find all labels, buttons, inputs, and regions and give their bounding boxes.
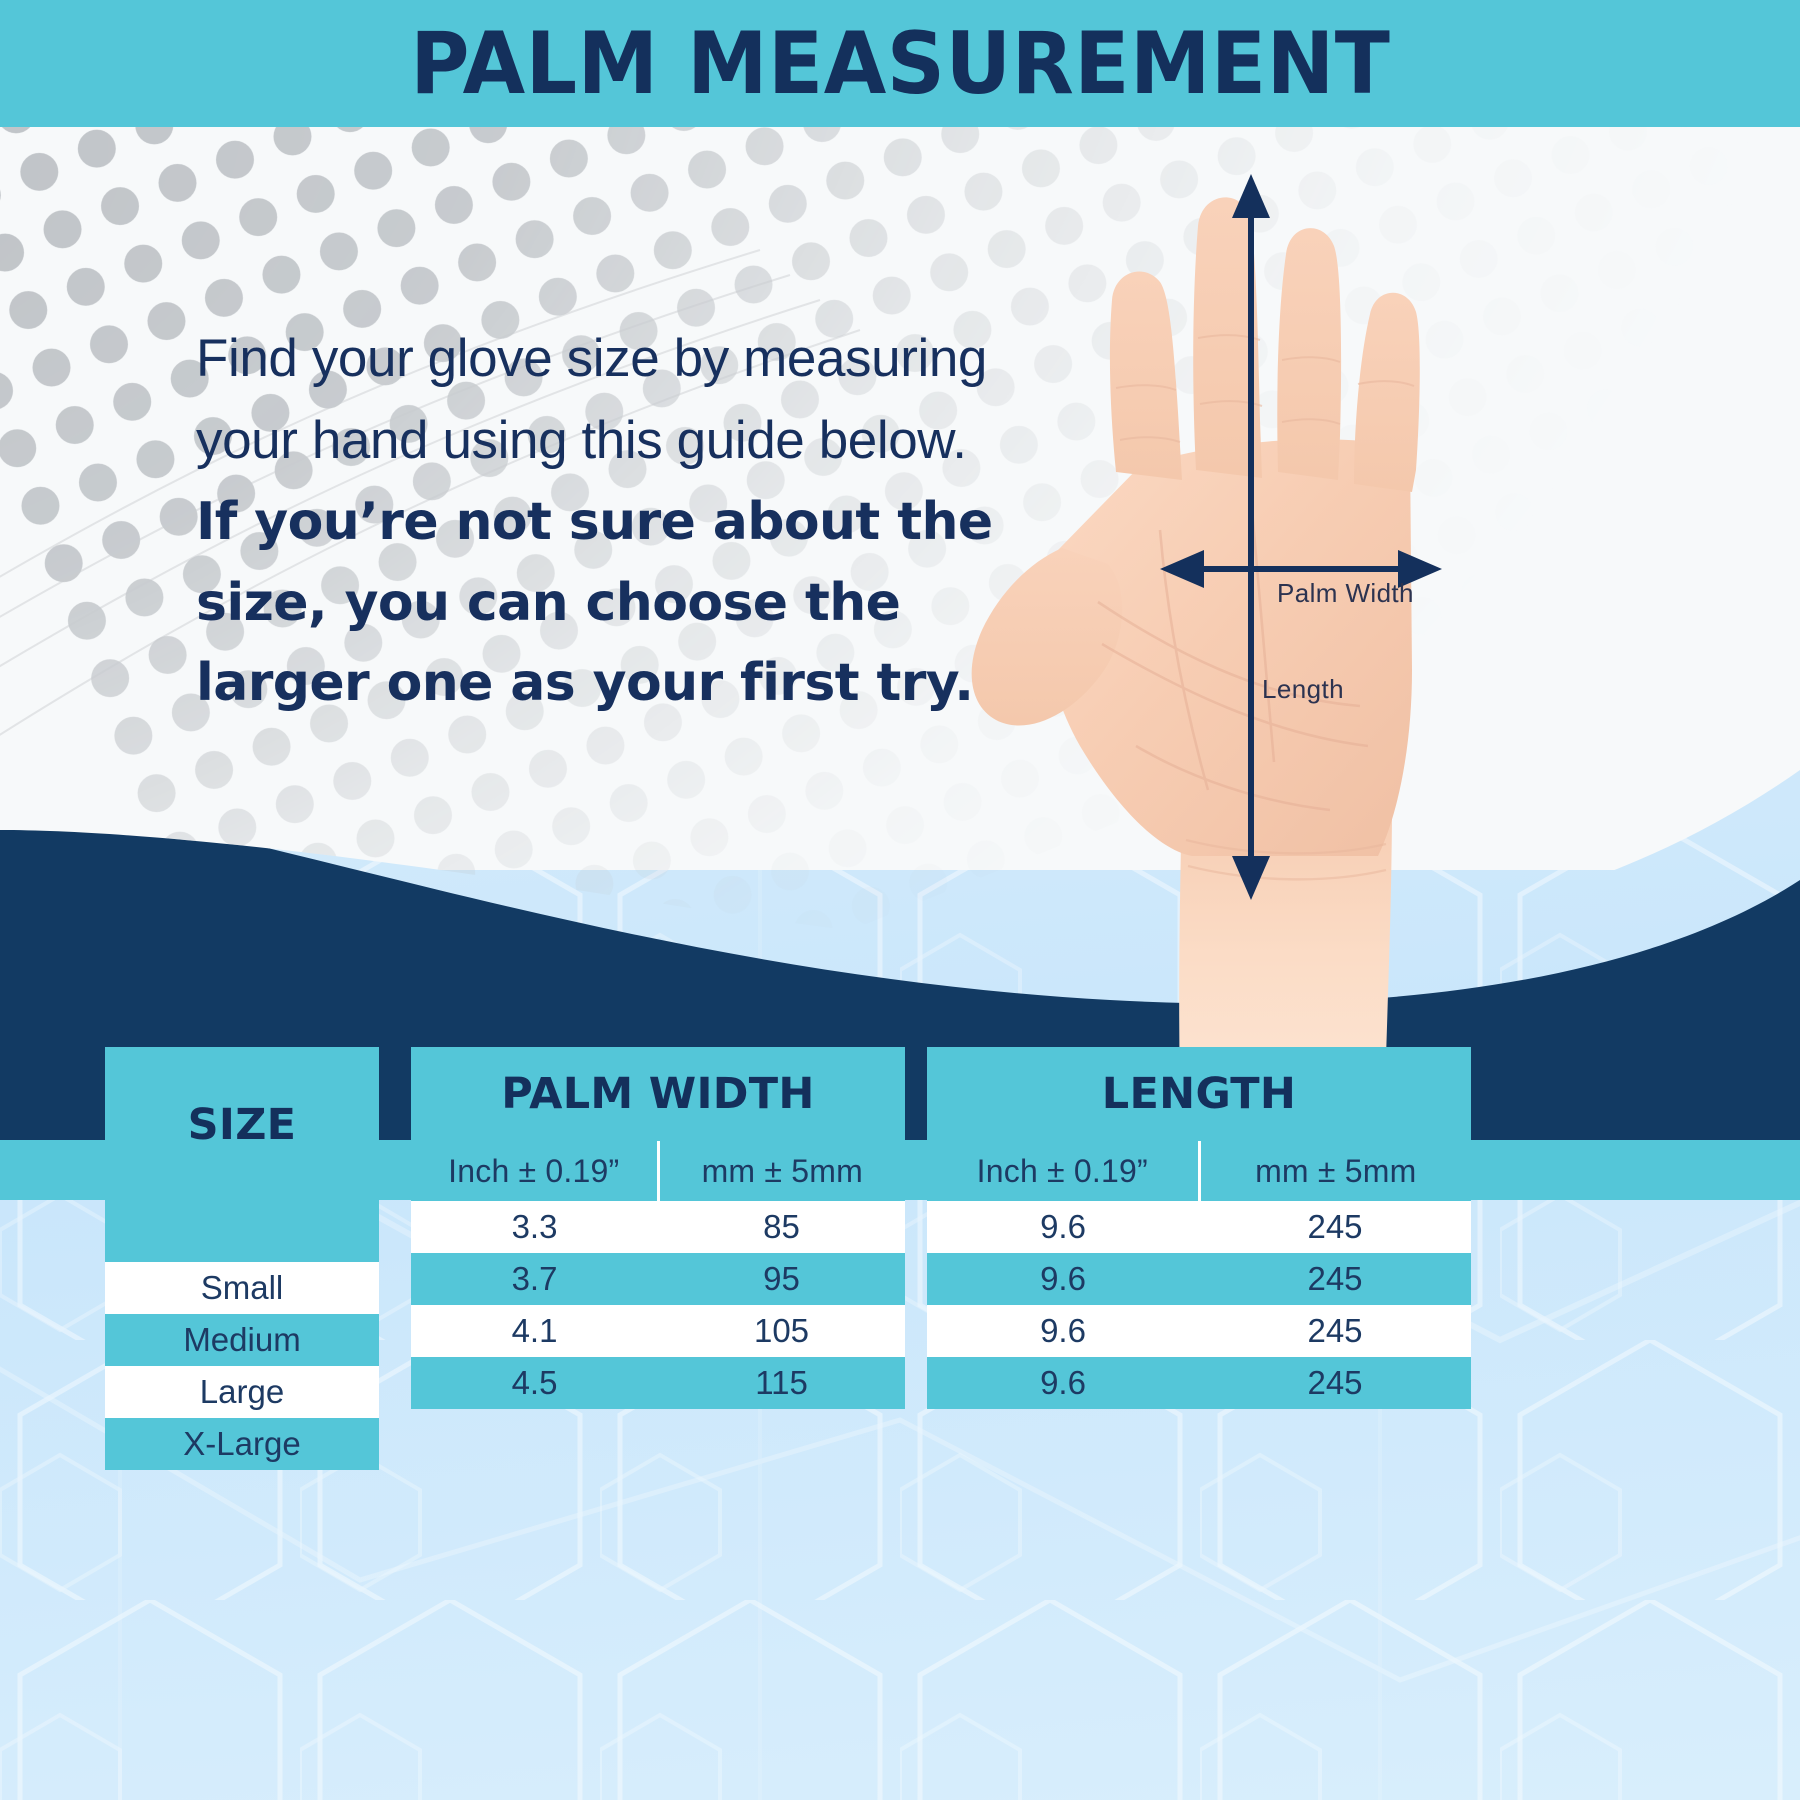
cell-length-mm: 245: [1199, 1357, 1471, 1409]
hand-photo: [930, 150, 1590, 1090]
cell-length-mm: 245: [1199, 1201, 1471, 1253]
table-row: X-Large: [105, 1418, 379, 1470]
table-row: 9.6 245: [927, 1357, 1471, 1409]
cell-length-inch: 9.6: [927, 1253, 1199, 1305]
cell-width-inch: 3.7: [411, 1253, 658, 1305]
subheader-inch: Inch ± 0.19”: [411, 1141, 657, 1201]
table-header-length: LENGTH: [927, 1047, 1471, 1141]
table-row: Medium: [105, 1314, 379, 1366]
cell-length-mm: 245: [1199, 1253, 1471, 1305]
cell-width-mm: 115: [658, 1357, 905, 1409]
cell-width-mm: 105: [658, 1305, 905, 1357]
table-row: 9.6 245: [927, 1253, 1471, 1305]
table-row: 3.3 85: [411, 1201, 905, 1253]
cell-size: Large: [105, 1366, 379, 1418]
cell-size: Medium: [105, 1314, 379, 1366]
table-row: 3.7 95: [411, 1253, 905, 1305]
cell-size: X-Large: [105, 1418, 379, 1470]
table-subheader-row-palm-width: Inch ± 0.19” mm ± 5mm: [411, 1141, 905, 1201]
cell-width-inch: 4.1: [411, 1305, 658, 1357]
table-group-length: LENGTH Inch ± 0.19” mm ± 5mm 9.6 245 9.6…: [927, 1047, 1471, 1409]
cell-length-inch: 9.6: [927, 1305, 1199, 1357]
length-label: Length: [1262, 674, 1344, 705]
size-table: SIZE Small Medium Large X-Large PALM WID…: [0, 1047, 1800, 1467]
cell-length-inch: 9.6: [927, 1201, 1199, 1253]
subheader-mm: mm ± 5mm: [657, 1141, 906, 1201]
subheader-mm: mm ± 5mm: [1198, 1141, 1472, 1201]
infographic-root: PALM MEASUREMENT Find your glove size by…: [0, 0, 1800, 1800]
palm-width-label: Palm Width: [1277, 578, 1414, 609]
table-subheader-row-length: Inch ± 0.19” mm ± 5mm: [927, 1141, 1471, 1201]
table-row: Small: [105, 1262, 379, 1314]
table-group-size: SIZE Small Medium Large X-Large: [105, 1047, 379, 1470]
cell-length-inch: 9.6: [927, 1357, 1199, 1409]
subheader-inch: Inch ± 0.19”: [927, 1141, 1198, 1201]
cell-length-mm: 245: [1199, 1305, 1471, 1357]
cell-width-inch: 3.3: [411, 1201, 658, 1253]
table-row: Large: [105, 1366, 379, 1418]
table-header-palm-width: PALM WIDTH: [411, 1047, 905, 1141]
page-title: PALM MEASUREMENT: [410, 21, 1390, 107]
table-row: 9.6 245: [927, 1305, 1471, 1357]
table-row: 4.5 115: [411, 1357, 905, 1409]
table-row: 4.1 105: [411, 1305, 905, 1357]
header-band: PALM MEASUREMENT: [0, 0, 1800, 127]
table-row: 9.6 245: [927, 1201, 1471, 1253]
table-header-size: SIZE: [105, 1047, 379, 1202]
cell-size: Small: [105, 1262, 379, 1314]
table-group-palm-width: PALM WIDTH Inch ± 0.19” mm ± 5mm 3.3 85 …: [411, 1047, 905, 1409]
table-size-spacer: [105, 1202, 379, 1262]
cell-width-mm: 95: [658, 1253, 905, 1305]
cell-width-mm: 85: [658, 1201, 905, 1253]
cell-width-inch: 4.5: [411, 1357, 658, 1409]
